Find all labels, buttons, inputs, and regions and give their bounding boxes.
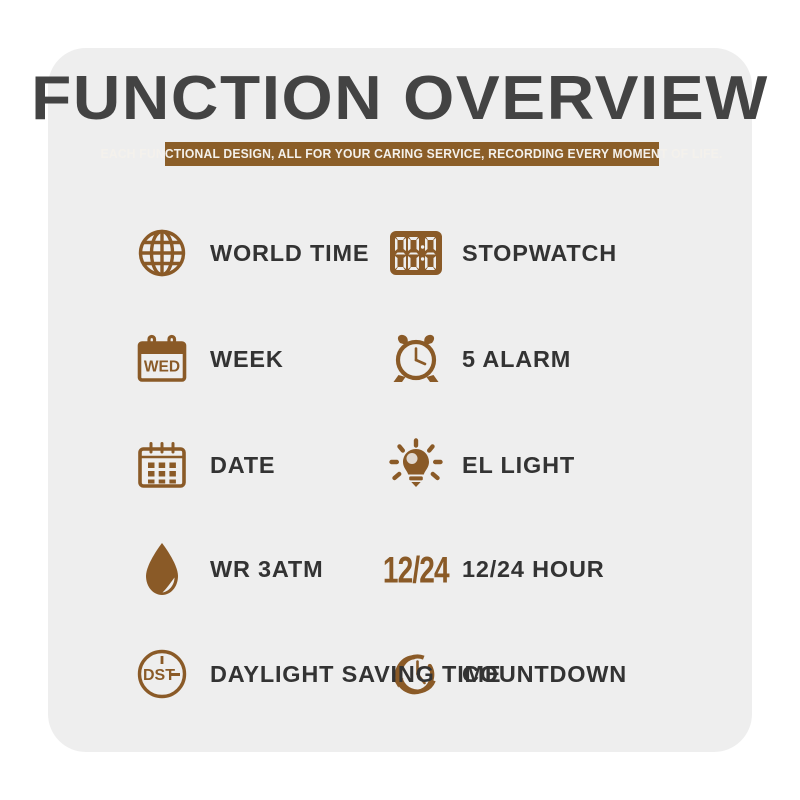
- function-overview-card: FUNCTION OVERVIEW EACH FUNCTIONAL DESIGN…: [48, 48, 752, 752]
- feature-label: 5 ALARM: [462, 346, 571, 373]
- feature-item-hour-format[interactable]: 12/24 12/24 HOUR: [378, 518, 752, 621]
- screenshot-root: FUNCTION OVERVIEW EACH FUNCTIONAL DESIGN…: [0, 0, 800, 800]
- feature-row: DST DAYLIGHT SAVING TIME: [48, 621, 752, 727]
- feature-item-daylight-saving[interactable]: DST DAYLIGHT SAVING TIME: [48, 621, 378, 727]
- hour-format-text: 12/24: [383, 548, 449, 591]
- feature-label: DAYLIGHT SAVING TIME: [210, 661, 501, 688]
- dst-text: DST: [143, 667, 175, 684]
- feature-row: WED WEEK: [48, 306, 752, 412]
- dst-circle-icon: DST: [132, 644, 192, 704]
- feature-item-date[interactable]: DATE: [48, 412, 378, 518]
- alarm-clock-icon: [386, 329, 446, 389]
- feature-item-alarm[interactable]: 5 ALARM: [378, 306, 752, 412]
- feature-row: DATE: [48, 412, 752, 518]
- feature-label: WORLD TIME: [210, 240, 369, 267]
- feature-item-el-light[interactable]: EL LIGHT: [378, 412, 752, 518]
- subtitle-text: EACH FUNCTIONAL DESIGN, ALL FOR YOUR CAR…: [101, 147, 723, 161]
- subtitle-banner: EACH FUNCTIONAL DESIGN, ALL FOR YOUR CAR…: [165, 142, 659, 166]
- calendar-week-text: WED: [144, 359, 180, 376]
- feature-item-world-time[interactable]: WORLD TIME: [48, 200, 378, 306]
- hour-format-icon: 12/24: [386, 540, 446, 600]
- feature-grid: WORLD TIME: [48, 200, 752, 727]
- feature-label: WEEK: [210, 346, 284, 373]
- globe-icon: [132, 223, 192, 283]
- calendar-week-icon: WED: [132, 329, 192, 389]
- feature-item-week[interactable]: WED WEEK: [48, 306, 378, 412]
- page-title: FUNCTION OVERVIEW: [27, 68, 773, 130]
- feature-item-water-resistance[interactable]: WR 3ATM: [48, 518, 378, 621]
- feature-label: 12/24 HOUR: [462, 556, 604, 583]
- water-drop-icon: [132, 540, 192, 600]
- light-bulb-icon: [386, 435, 446, 495]
- calendar-date-icon: [132, 435, 192, 495]
- feature-label: EL LIGHT: [462, 452, 575, 479]
- feature-label: DATE: [210, 452, 275, 479]
- stopwatch-icon: [386, 223, 446, 283]
- feature-item-stopwatch[interactable]: STOPWATCH: [378, 200, 752, 306]
- feature-row: WORLD TIME: [48, 200, 752, 306]
- feature-row: WR 3ATM 12/24 12/24 HOUR: [48, 518, 752, 621]
- feature-label: WR 3ATM: [210, 556, 323, 583]
- feature-label: COUNTDOWN: [462, 661, 627, 688]
- feature-label: STOPWATCH: [462, 240, 617, 267]
